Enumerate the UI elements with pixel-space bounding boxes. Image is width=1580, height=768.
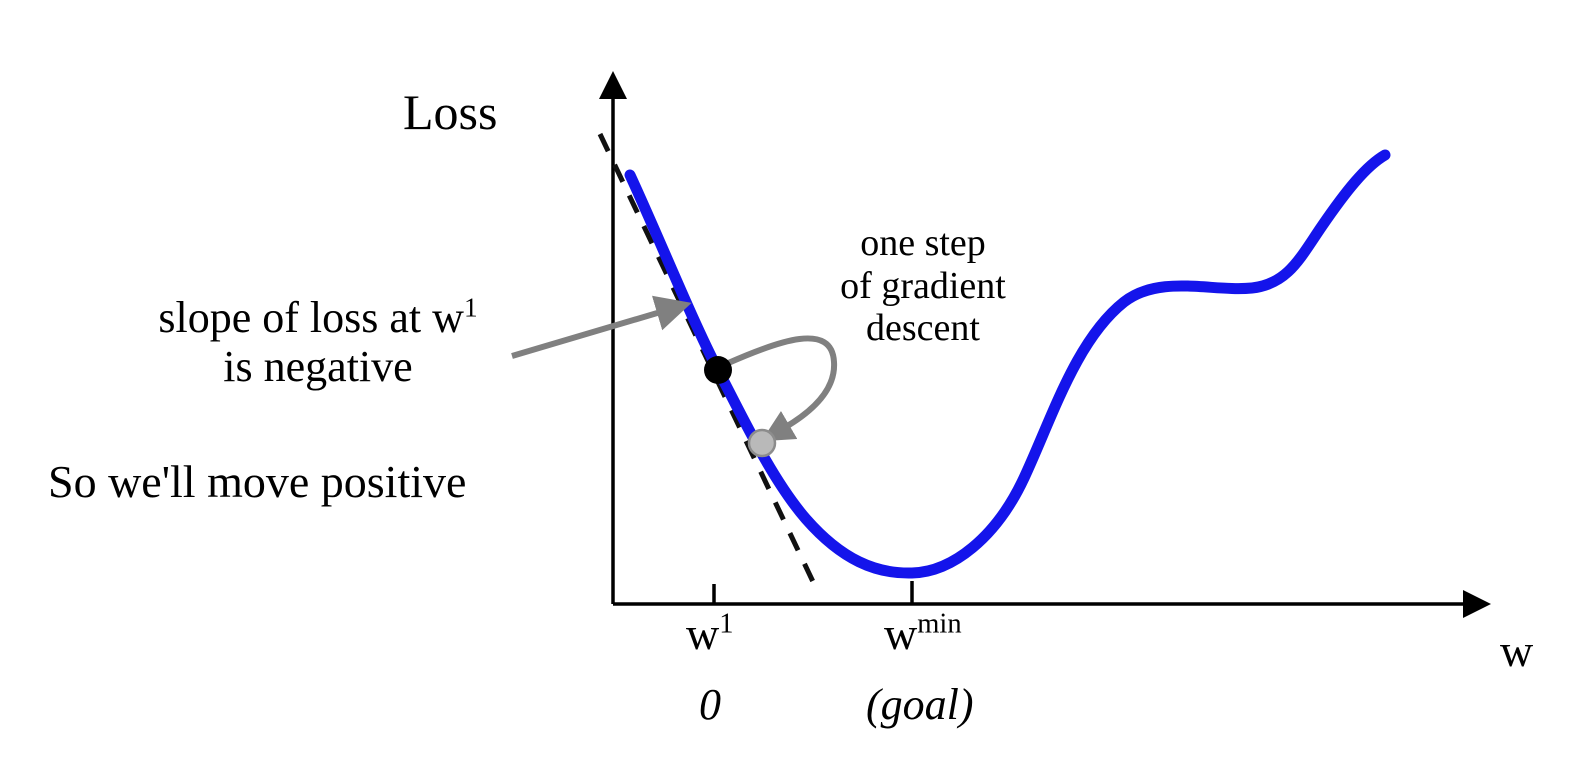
annotation-step-line2: of gradient [838, 265, 1008, 308]
x-tick-label-wmin-base: w [884, 608, 917, 659]
x-tick-sublabel-w1: 0 [699, 680, 721, 729]
annotation-slope-line1: slope of loss at w1 [118, 293, 518, 342]
annotation-slope-line2: is negative [118, 342, 518, 391]
x-axis-title: w [1500, 625, 1533, 677]
annotation-move-positive: So we'll move positive [48, 456, 466, 508]
annotation-slope-line1-sup: 1 [464, 292, 478, 322]
x-tick-label-wmin: wmin [884, 608, 962, 660]
annotation-slope-line1-text: slope of loss at w [158, 293, 464, 342]
slope-pointer-arrow [512, 311, 664, 356]
loss-curve [630, 155, 1385, 573]
loss-curve-figure: Loss w slope of loss at w1 is negative S… [0, 0, 1580, 768]
x-tick-label-w1: w1 [686, 608, 734, 660]
annotation-one-step-gradient-descent: one step of gradient descent [838, 222, 1008, 350]
annotation-step-line3: descent [838, 307, 1008, 350]
annotation-slope-negative: slope of loss at w1 is negative [118, 293, 518, 392]
x-tick-sublabel-wmin: (goal) [866, 680, 974, 729]
x-tick-label-w1-sup: 1 [719, 609, 733, 640]
y-axis-title: Loss [403, 84, 497, 140]
x-tick-label-w1-base: w [686, 608, 719, 659]
next-weight-point [749, 430, 775, 456]
current-weight-point [704, 356, 732, 384]
annotation-step-line1: one step [838, 222, 1008, 265]
x-tick-label-wmin-sup: min [917, 609, 961, 640]
